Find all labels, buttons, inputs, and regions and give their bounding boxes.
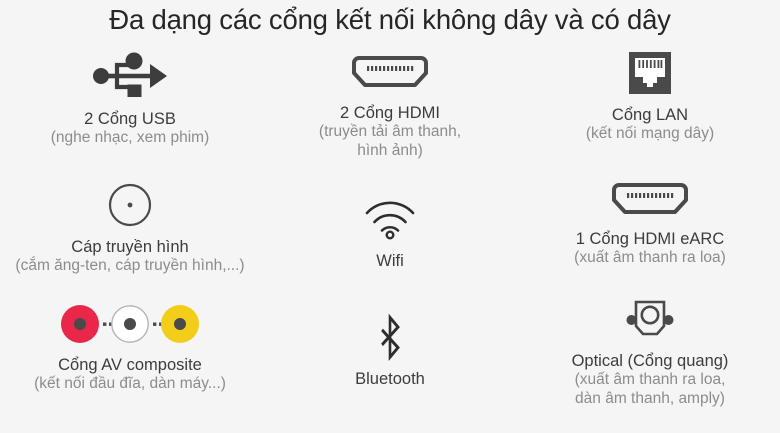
feature-label: Cổng AV composite — [58, 356, 202, 375]
feature-wifi: Wifi — [260, 196, 520, 304]
feature-av-composite: Cổng AV composite (kết nối đầu đĩa, dàn … — [0, 300, 260, 433]
hdmi-earc-icon — [611, 176, 689, 222]
feature-hdmi: 2 Cổng HDMI (truyền tải âm thanh, hình ả… — [260, 48, 520, 196]
feature-lan: Cổng LAN (kết nối mạng dây) — [520, 48, 780, 176]
feature-sub-line: (cắm ăng-ten, cáp truyền hình,...) — [15, 257, 244, 276]
feature-coaxial-cable: Cáp truyền hình (cắm ăng-ten, cáp truyền… — [0, 180, 260, 300]
feature-label: 1 Cổng HDMI eARC — [576, 230, 725, 249]
feature-label: Bluetooth — [355, 370, 425, 389]
wifi-icon — [361, 196, 419, 244]
feature-sub-line: dàn âm thanh, amply) — [575, 390, 725, 409]
column-left: 2 Cổng USB (nghe nhạc, xem phim) Cáp tru… — [0, 48, 260, 433]
feature-label: Cổng LAN — [612, 106, 688, 125]
feature-sub-line: (nghe nhạc, xem phim) — [51, 129, 210, 148]
hdmi-port-icon — [351, 48, 429, 96]
optical-port-icon — [624, 296, 676, 344]
feature-hdmi-earc: 1 Cổng HDMI eARC (xuất âm thanh ra loa) — [520, 176, 780, 296]
feature-label: 2 Cổng USB — [84, 110, 176, 129]
feature-label: Optical (Cổng quang) — [572, 352, 729, 371]
lan-rj45-icon — [627, 48, 673, 98]
feature-label: 2 Cổng HDMI — [340, 104, 440, 123]
feature-usb: 2 Cổng USB (nghe nhạc, xem phim) — [0, 48, 260, 180]
feature-sub-line: hình ảnh) — [357, 142, 423, 161]
bluetooth-icon — [370, 304, 410, 362]
ports-grid: 2 Cổng USB (nghe nhạc, xem phim) Cáp tru… — [0, 48, 780, 433]
column-middle: 2 Cổng HDMI (truyền tải âm thanh, hình ả… — [260, 48, 520, 433]
infographic-page: Đa dạng các cổng kết nối không dây và có… — [0, 0, 780, 433]
feature-sub-line: (kết nối mạng dây) — [586, 125, 714, 144]
feature-label: Cáp truyền hình — [71, 238, 188, 257]
page-title: Đa dạng các cổng kết nối không dây và có… — [0, 4, 780, 36]
feature-sub-line: (xuất âm thanh ra loa) — [574, 249, 726, 268]
av-composite-icon — [60, 300, 200, 348]
feature-bluetooth: Bluetooth — [260, 304, 520, 433]
feature-sub-line: (kết nối đầu đĩa, dàn máy...) — [34, 375, 226, 394]
feature-label: Wifi — [376, 252, 404, 271]
usb-icon — [92, 48, 168, 100]
feature-sub-line: (truyền tải âm thanh, — [319, 123, 461, 142]
feature-sub-line: (xuất âm thanh ra loa, — [575, 371, 726, 390]
feature-optical: Optical (Cổng quang) (xuất âm thanh ra l… — [520, 296, 780, 433]
coaxial-cable-icon — [107, 180, 153, 230]
column-right: Cổng LAN (kết nối mạng dây) — [520, 48, 780, 433]
